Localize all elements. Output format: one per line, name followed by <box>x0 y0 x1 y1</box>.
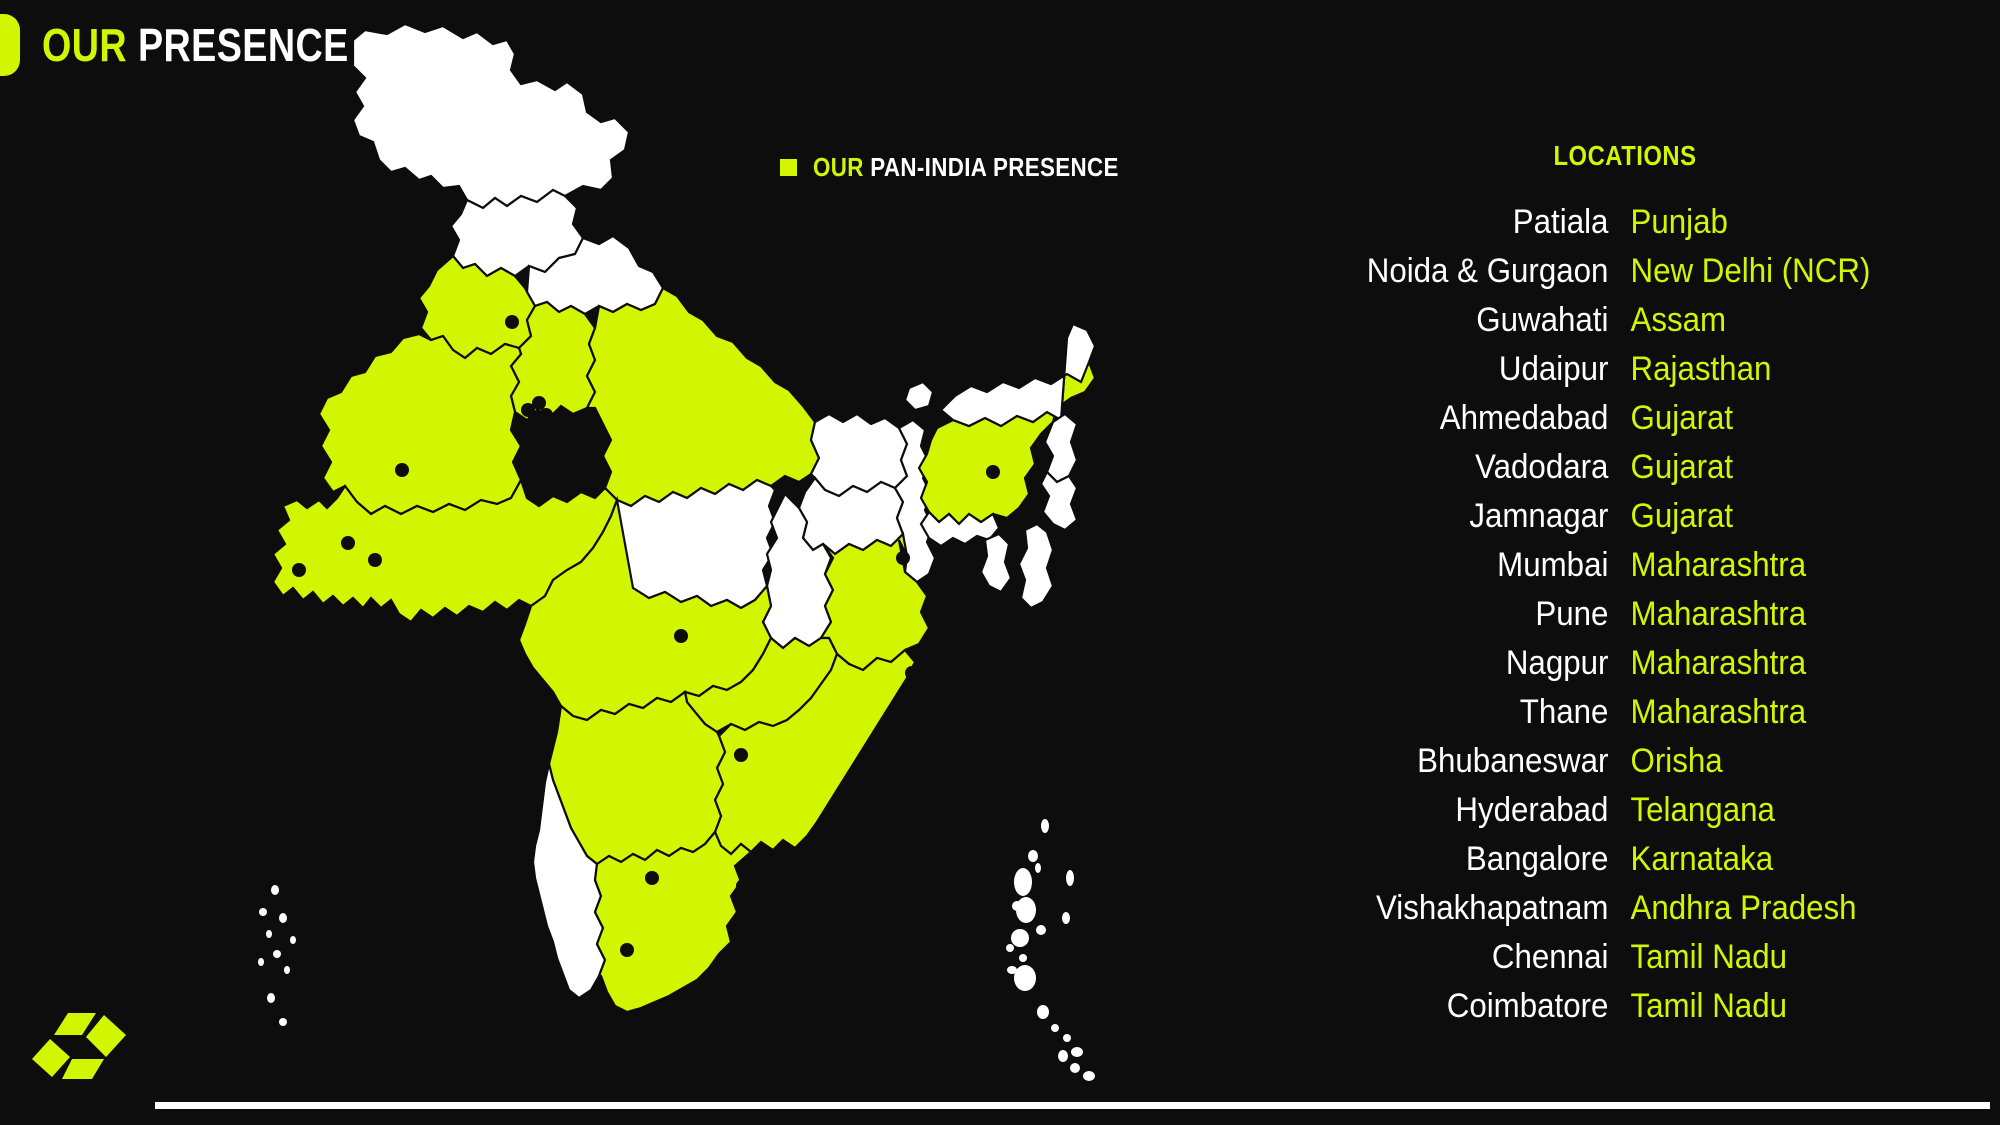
location-state: Punjab <box>1625 198 1938 247</box>
location-city: Jamnagar <box>1312 492 1625 541</box>
title-accent-icon <box>0 14 20 76</box>
location-state: Gujarat <box>1625 394 1938 443</box>
city-marker-bhubaneswar <box>896 551 910 565</box>
location-state: Maharashtra <box>1625 639 1938 688</box>
locations-table: PatialaPunjabNoida & GurgaonNew Delhi (N… <box>1285 198 1965 1031</box>
location-city: Bangalore <box>1312 835 1625 884</box>
location-row: AhmedabadGujarat <box>1285 394 1965 443</box>
location-city: Vishakhapatnam <box>1312 884 1625 933</box>
state-jammu-kashmir <box>353 24 629 208</box>
location-row: PatialaPunjab <box>1285 198 1965 247</box>
city-marker-vishakhapatnam <box>905 666 919 680</box>
city-marker-coimbatore <box>620 943 634 957</box>
location-row: PuneMaharashtra <box>1285 590 1965 639</box>
city-marker-guwahati <box>986 465 1000 479</box>
location-state: Rajasthan <box>1625 345 1938 394</box>
location-city: Vadodara <box>1312 443 1625 492</box>
location-row: ChennaiTamil Nadu <box>1285 933 1965 982</box>
location-city: Chennai <box>1312 933 1625 982</box>
city-marker-patiala <box>505 315 519 329</box>
location-row: BhubaneswarOrisha <box>1285 737 1965 786</box>
location-city: Udaipur <box>1312 345 1625 394</box>
city-marker-delhi-alt <box>539 408 553 422</box>
location-row: NagpurMaharashtra <box>1285 639 1965 688</box>
locations-heading: LOCATIONS <box>1336 140 1914 172</box>
state-sikkim <box>905 382 933 410</box>
state-manipur <box>1041 472 1077 530</box>
location-state: Karnataka <box>1625 835 1938 884</box>
location-row: HyderabadTelangana <box>1285 786 1965 835</box>
footer-divider-rule <box>155 1102 1990 1109</box>
location-city: Thane <box>1312 688 1625 737</box>
city-marker-pune <box>357 693 371 707</box>
location-city: Patiala <box>1312 198 1625 247</box>
location-city: Bhubaneswar <box>1312 737 1625 786</box>
locations-panel: LOCATIONS PatialaPunjabNoida & GurgaonNe… <box>1285 140 1965 1031</box>
location-state: Assam <box>1625 296 1938 345</box>
city-marker-udaipur <box>395 463 409 477</box>
location-state: Maharashtra <box>1625 688 1938 737</box>
slide-canvas: OUR PRESENCE OUR PAN-INDIA PRESENCE <box>0 0 2000 1125</box>
state-uttar-pradesh <box>587 288 819 506</box>
location-state: New Delhi (NCR) <box>1625 247 1938 296</box>
location-row: UdaipurRajasthan <box>1285 345 1965 394</box>
city-marker-chennai <box>736 879 750 893</box>
state-arunachal-pradesh <box>941 324 1095 426</box>
page-title-primary: OUR <box>42 19 127 71</box>
location-state: Telangana <box>1625 786 1938 835</box>
brand-logo-svg <box>30 1005 160 1085</box>
india-presence-map <box>215 10 1150 1090</box>
brand-diamond-logo-icon <box>30 1005 160 1085</box>
location-row: Noida & GurgaonNew Delhi (NCR) <box>1285 247 1965 296</box>
location-row: BangaloreKarnataka <box>1285 835 1965 884</box>
location-row: JamnagarGujarat <box>1285 492 1965 541</box>
city-marker-nagpur <box>674 629 688 643</box>
location-state: Gujarat <box>1625 492 1938 541</box>
location-city: Guwahati <box>1312 296 1625 345</box>
state-bihar <box>811 414 907 496</box>
lakshadweep-islands <box>258 885 296 1026</box>
andaman-nicobar-islands <box>1006 819 1095 1081</box>
location-row: VishakhapatnamAndhra Pradesh <box>1285 884 1965 933</box>
city-marker-delhi <box>521 403 535 417</box>
location-row: GuwahatiAssam <box>1285 296 1965 345</box>
location-row: MumbaiMaharashtra <box>1285 541 1965 590</box>
state-jharkhand <box>799 478 903 554</box>
city-marker-jamnagar <box>292 563 306 577</box>
state-mizoram <box>1019 524 1053 608</box>
location-state: Tamil Nadu <box>1625 933 1938 982</box>
location-state: Gujarat <box>1625 443 1938 492</box>
location-row: VadodaraGujarat <box>1285 443 1965 492</box>
location-row: ThaneMaharashtra <box>1285 688 1965 737</box>
india-map-svg <box>215 10 1150 1090</box>
location-row: CoimbatoreTamil Nadu <box>1285 982 1965 1031</box>
location-state: Orisha <box>1625 737 1938 786</box>
city-marker-mumbai <box>336 661 350 675</box>
location-state: Andhra Pradesh <box>1625 884 1938 933</box>
city-marker-vadodara <box>368 553 382 567</box>
state-rajasthan <box>319 334 521 514</box>
location-state: Tamil Nadu <box>1625 982 1938 1031</box>
location-city: Pune <box>1312 590 1625 639</box>
location-city: Noida & Gurgaon <box>1312 247 1625 296</box>
location-city: Hyderabad <box>1312 786 1625 835</box>
location-state: Maharashtra <box>1625 541 1938 590</box>
city-marker-thane <box>330 648 344 662</box>
location-city: Ahmedabad <box>1312 394 1625 443</box>
city-marker-hyderabad <box>734 748 748 762</box>
location-state: Maharashtra <box>1625 590 1938 639</box>
location-city: Mumbai <box>1312 541 1625 590</box>
location-city: Coimbatore <box>1312 982 1625 1031</box>
location-city: Nagpur <box>1312 639 1625 688</box>
city-marker-bangalore <box>645 871 659 885</box>
state-tripura <box>981 534 1011 592</box>
city-marker-ahmedabad <box>341 536 355 550</box>
